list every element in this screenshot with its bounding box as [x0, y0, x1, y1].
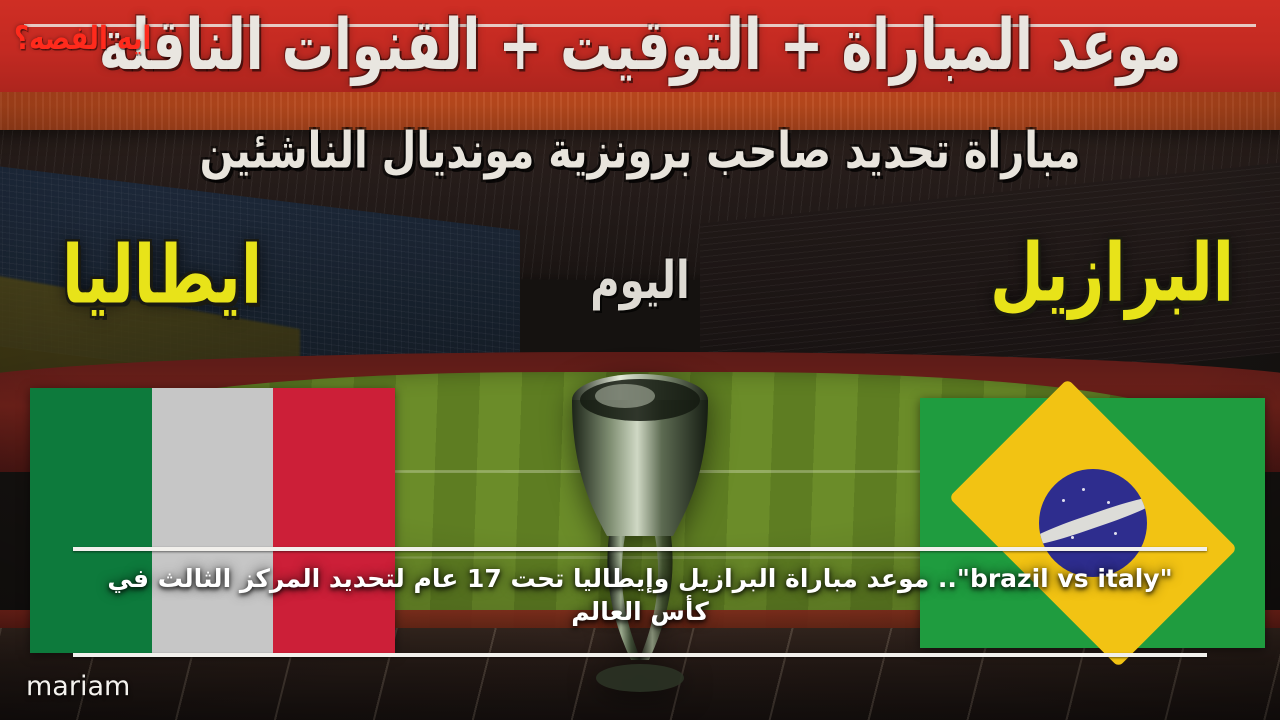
- caption-arabic-part: .. موعد مباراة البرازيل وإيطاليا تحت 17 …: [107, 564, 957, 593]
- caption-block: "brazil vs italy".. موعد مباراة البرازيل…: [80, 562, 1200, 628]
- site-watermark-logo: ايه الفصه؟: [14, 20, 151, 58]
- caption-rule-top: [73, 547, 1207, 551]
- trophy-icon: [545, 360, 735, 720]
- caption-line-1: "brazil vs italy".. موعد مباراة البرازيل…: [80, 562, 1200, 595]
- author-byline: mariam: [26, 671, 130, 702]
- brazil-flag-banner-band: [1039, 493, 1147, 550]
- banner-headline-text: موعد المباراة + التوقيت + القنوات الناقل…: [99, 11, 1182, 81]
- team-name-right: البرازيل: [990, 225, 1234, 320]
- promo-graphic: موعد المباراة + التوقيت + القنوات الناقل…: [0, 0, 1280, 720]
- team-name-left: ايطاليا: [62, 227, 262, 322]
- today-label: اليوم: [590, 251, 689, 311]
- caption-latin-title: "brazil vs italy": [957, 564, 1173, 593]
- caption-rule-bottom: [73, 653, 1207, 657]
- headline-banner: موعد المباراة + التوقيت + القنوات الناقل…: [0, 0, 1280, 92]
- caption-line-2: كأس العالم: [80, 595, 1200, 628]
- brazil-flag-blue-globe: [1039, 469, 1147, 577]
- sub-headline-text: مباراة تحديد صاحب برونزية مونديال الناشئ…: [0, 122, 1280, 180]
